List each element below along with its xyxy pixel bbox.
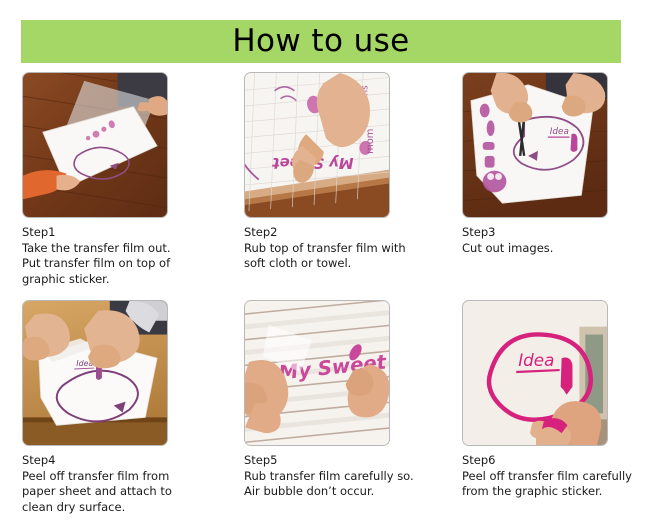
steps-grid: Step1 Take the transfer film out. Put tr… — [0, 72, 647, 525]
header-banner: How to use — [21, 20, 621, 63]
step1-caption: Step1 Take the transfer film out. Put tr… — [12, 225, 212, 287]
step5-desc-line-1: Rub transfer film carefully so. — [244, 469, 434, 485]
step-card-1: Step1 Take the transfer film out. Put tr… — [12, 72, 212, 287]
step-card-3: Idea — [452, 72, 647, 256]
steps-row-2: Idea — [0, 300, 647, 525]
step1-photo-frame — [22, 72, 168, 218]
step1-desc-line-3: graphic sticker. — [22, 272, 212, 288]
step3-label: Step3 — [462, 225, 647, 241]
step4-desc-line-1: Peel off transfer film from — [22, 469, 212, 485]
step-card-6: Idea — [452, 300, 647, 500]
step2-desc-line-1: Rub top of transfer film with — [244, 241, 434, 257]
step4-desc-line-2: paper sheet and attach to — [22, 484, 212, 500]
step4-photo-frame: Idea — [22, 300, 168, 446]
step1-desc-line-2: Put transfer film on top of — [22, 256, 212, 272]
step4-desc-line-3: clean dry surface. — [22, 500, 212, 516]
step6-label: Step6 — [462, 453, 647, 469]
step6-photo-final-peel: Idea — [463, 301, 607, 445]
svg-text:Idea: Idea — [518, 350, 554, 370]
step1-label: Step1 — [22, 225, 212, 241]
step1-desc-line-1: Take the transfer film out. — [22, 241, 212, 257]
step5-photo-frame: My Sweet — [244, 300, 390, 446]
step5-label: Step5 — [244, 453, 434, 469]
step5-caption: Step5 Rub transfer film carefully so. Ai… — [234, 453, 434, 500]
svg-text:mom: mom — [365, 129, 376, 154]
step1-photo-transfer-film-on-floor — [23, 73, 167, 217]
svg-text:Idea: Idea — [550, 127, 569, 137]
step-card-4: Idea — [12, 300, 212, 515]
step6-caption: Step6 Peel off transfer film carefully f… — [452, 453, 647, 500]
how-to-use-page: How to use — [0, 0, 647, 525]
step6-desc-line-1: Peel off transfer film carefully — [462, 469, 647, 485]
step-card-5: My Sweet — [234, 300, 434, 500]
step2-photo-frame: My Sweet ter rooms mom — [244, 72, 390, 218]
step2-photo-rubbing-film: My Sweet ter rooms mom — [245, 73, 389, 217]
step5-photo-rubbing-on-wall: My Sweet — [245, 301, 389, 445]
page-title: How to use — [232, 26, 409, 57]
step2-label: Step2 — [244, 225, 434, 241]
step3-desc-line-1: Cut out images. — [462, 241, 647, 257]
step3-photo-frame: Idea — [462, 72, 608, 218]
step6-photo-frame: Idea — [462, 300, 608, 446]
step2-caption: Step2 Rub top of transfer film with soft… — [234, 225, 434, 272]
step6-desc-line-2: from the graphic sticker. — [462, 484, 647, 500]
step3-caption: Step3 Cut out images. — [452, 225, 647, 256]
step3-photo-cutting-images: Idea — [463, 73, 607, 217]
step4-photo-peeling-backing: Idea — [23, 301, 167, 445]
step4-label: Step4 — [22, 453, 212, 469]
step2-desc-line-2: soft cloth or towel. — [244, 256, 434, 272]
step-card-2: My Sweet ter rooms mom — [234, 72, 434, 272]
step5-desc-line-2: Air bubble don’t occur. — [244, 484, 434, 500]
step4-caption: Step4 Peel off transfer film from paper … — [12, 453, 212, 515]
steps-row-1: Step1 Take the transfer film out. Put tr… — [0, 72, 647, 300]
